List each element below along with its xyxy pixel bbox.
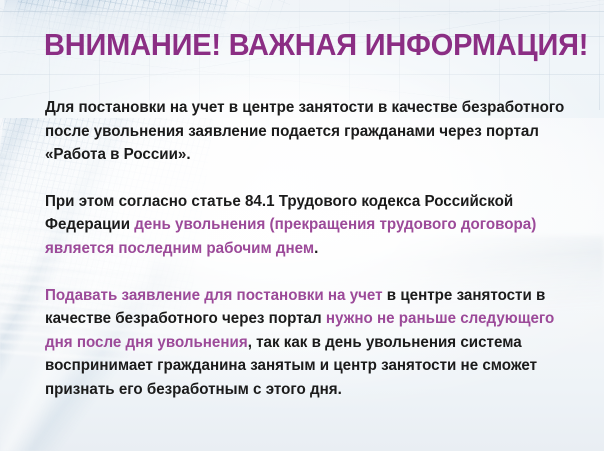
text-run: . (314, 240, 318, 257)
text-run-highlight: Подавать заявление для постановки на уче… (45, 287, 383, 304)
poster-canvas: ВНИМАНИЕ! ВАЖНАЯ ИНФОРМАЦИЯ! Для постано… (0, 0, 604, 451)
paragraph-3: Подавать заявление для постановки на уче… (45, 284, 567, 402)
paragraph-2: При этом согласно статье 84.1 Трудового … (45, 190, 567, 261)
poster-content: ВНИМАНИЕ! ВАЖНАЯ ИНФОРМАЦИЯ! Для постано… (0, 0, 604, 451)
paragraph-1: Для постановки на учет в центре занятост… (45, 96, 567, 167)
poster-body-text: Для постановки на учет в центре занятост… (45, 96, 567, 402)
text-run: Для постановки на учет в центре занятост… (45, 99, 564, 163)
poster-headline: ВНИМАНИЕ! ВАЖНАЯ ИНФОРМАЦИЯ! (44, 27, 588, 63)
